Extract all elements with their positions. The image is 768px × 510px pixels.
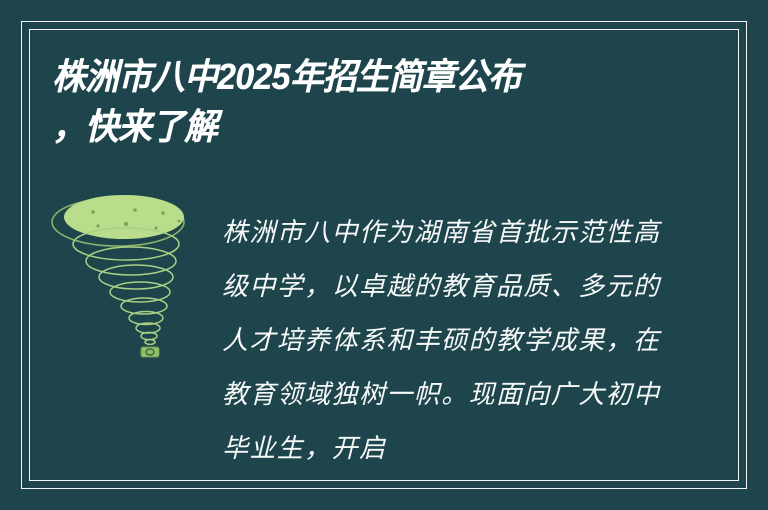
page-title-line-1: 株洲市八中2025年招生简章公布 (52, 52, 655, 102)
page-title-line-2: ，快来了解 (52, 102, 655, 152)
tornado-whirlwind-icon (38, 188, 210, 383)
article-body-paragraph: 株洲市八中作为湖南省首批示范性高级中学，以卓越的教育品质、多元的人才培养体系和丰… (222, 206, 670, 476)
article-card: 株洲市八中2025年招生简章公布 ，快来了解 (0, 0, 768, 510)
page-title: 株洲市八中2025年招生简章公布 ，快来了解 (52, 52, 700, 152)
tornado-top-disc (64, 195, 184, 239)
tornado-whirlwind-graphic (38, 188, 210, 383)
banknote-icon (141, 347, 159, 357)
article-body: 株洲市八中作为湖南省首批示范性高级中学，以卓越的教育品质、多元的人才培养体系和丰… (222, 206, 670, 478)
